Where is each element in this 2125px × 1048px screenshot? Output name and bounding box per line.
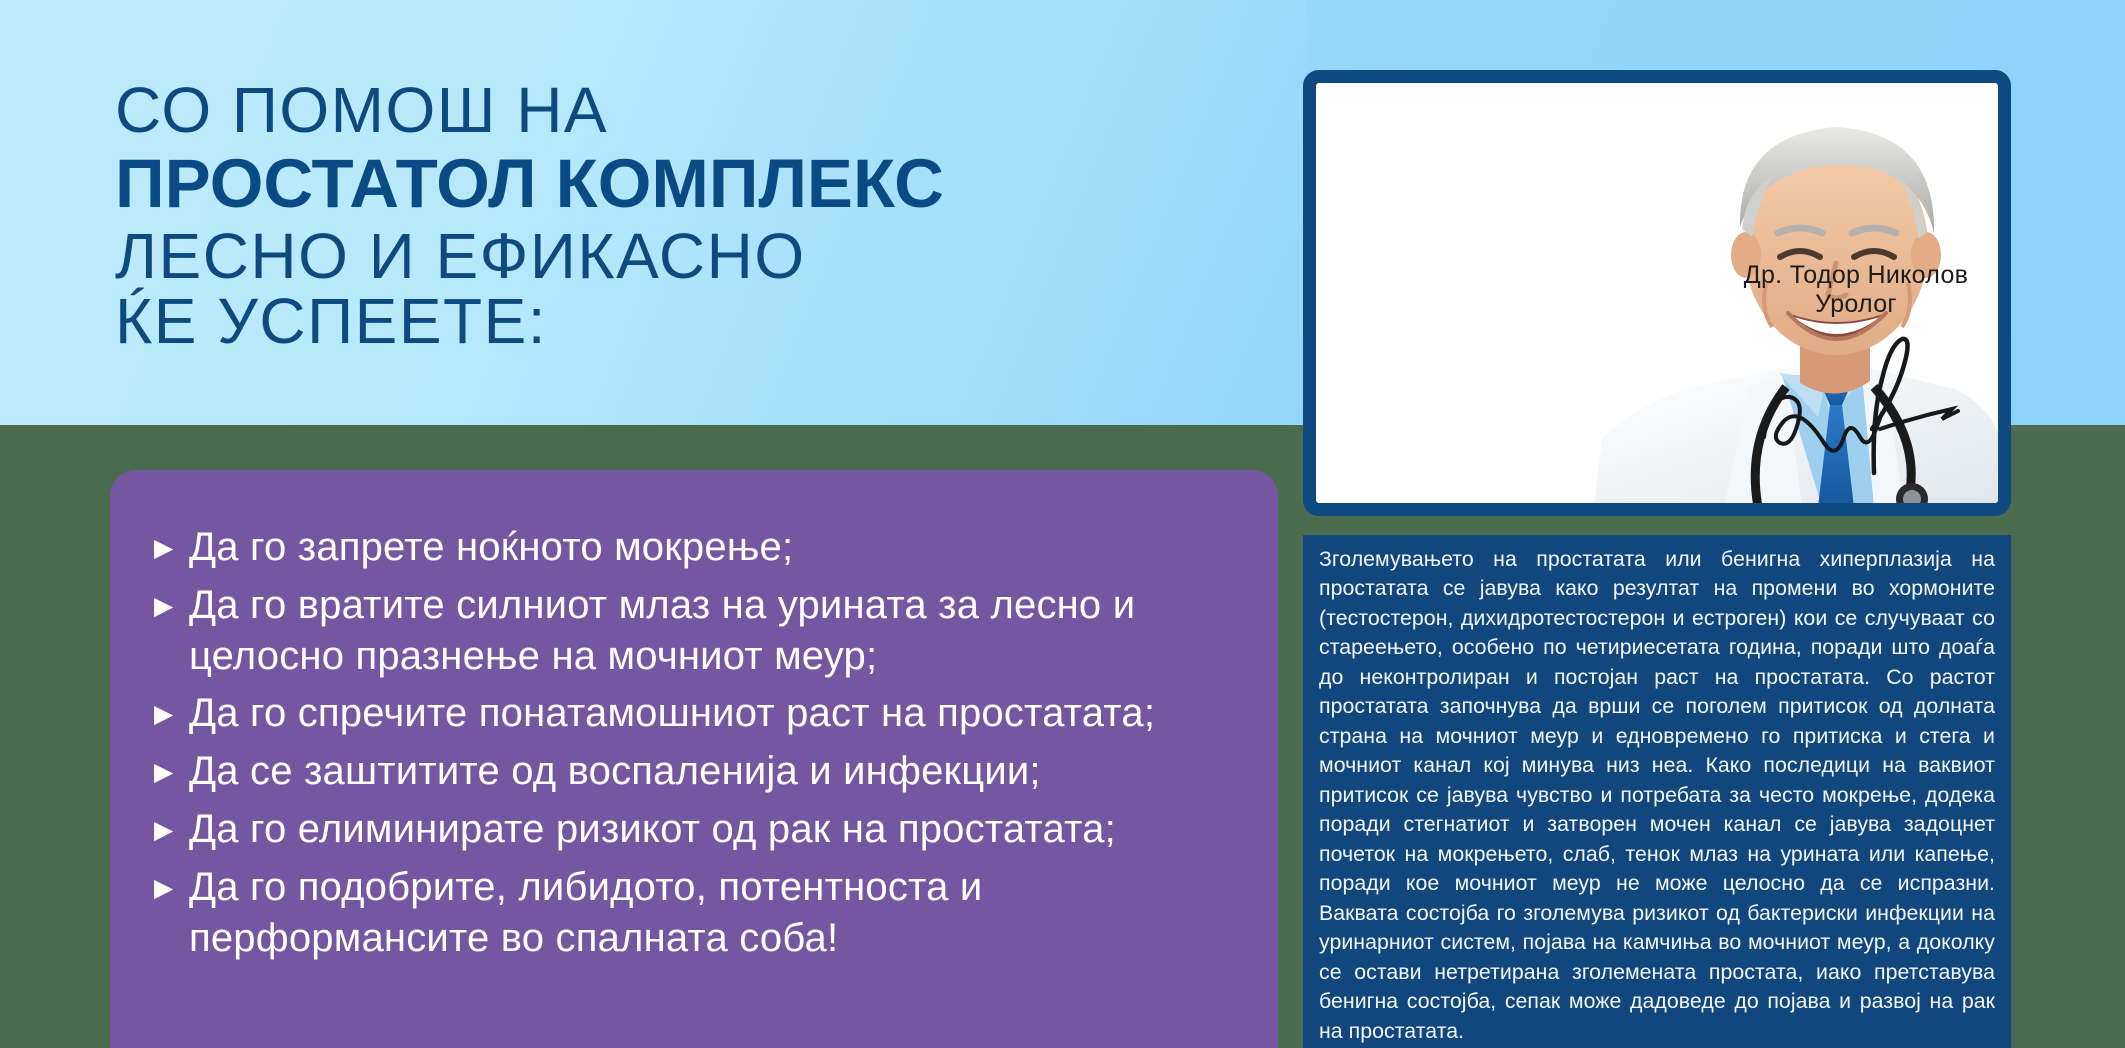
list-item: ▶ Да го запрете ноќното мокрење; [154,522,1234,573]
triangle-bullet-icon: ▶ [154,765,180,780]
headline-line-4: ЌЕ УСПЕЕТЕ: [115,289,1235,354]
list-item-label: Да го вратите силниот млаз на урината за… [189,580,1234,682]
page-title: СО ПОМОШ НА ПРОСТАТОЛ КОМПЛЕКС ЛЕСНО И Е… [115,78,1235,354]
info-paragraph: Зголемувањето на простатата или бенигна … [1319,545,1995,1046]
doctor-caption: Др. Тодор Николов Уролог [1706,261,2006,319]
signature-icon [1756,325,1986,475]
doctor-name: Др. Тодор Николов [1706,261,2006,290]
list-item-label: Да го спречите понатамошниот раст на про… [189,688,1234,739]
triangle-bullet-icon: ▶ [154,823,180,838]
list-item: ▶ Да го вратите силниот млаз на урината … [154,580,1234,682]
doctor-card: Др. Тодор Николов Уролог [1303,70,2011,516]
benefits-card: ▶ Да го запрете ноќното мокрење; ▶ Да го… [110,470,1278,1048]
list-item-label: Да го подобрите, либидото, потентноста и… [189,862,1234,964]
triangle-bullet-icon: ▶ [154,881,180,896]
headline-line-3: ЛЕСНО И ЕФИКАСНО [115,224,1235,289]
list-item-label: Да го елиминирате ризикот од рак на прос… [189,804,1234,855]
list-item: ▶ Да се заштитите од воспаленија и инфек… [154,746,1234,797]
triangle-bullet-icon: ▶ [154,541,180,556]
headline-product-name: ПРОСТАТОЛ КОМПЛЕКС [115,149,1235,219]
list-item-label: Да го запрете ноќното мокрење; [189,522,1234,573]
list-item: ▶ Да го спречите понатамошниот раст на п… [154,688,1234,739]
info-panel: Зголемувањето на простатата или бенигна … [1303,535,2011,1048]
triangle-bullet-icon: ▶ [154,599,180,614]
list-item-label: Да се заштитите од воспаленија и инфекци… [189,746,1234,797]
list-item: ▶ Да го елиминирате ризикот од рак на пр… [154,804,1234,855]
doctor-specialty: Уролог [1706,290,2006,319]
list-item: ▶ Да го подобрите, либидото, потентноста… [154,862,1234,964]
triangle-bullet-icon: ▶ [154,707,180,722]
headline-line-1: СО ПОМОШ НА [115,78,1235,143]
